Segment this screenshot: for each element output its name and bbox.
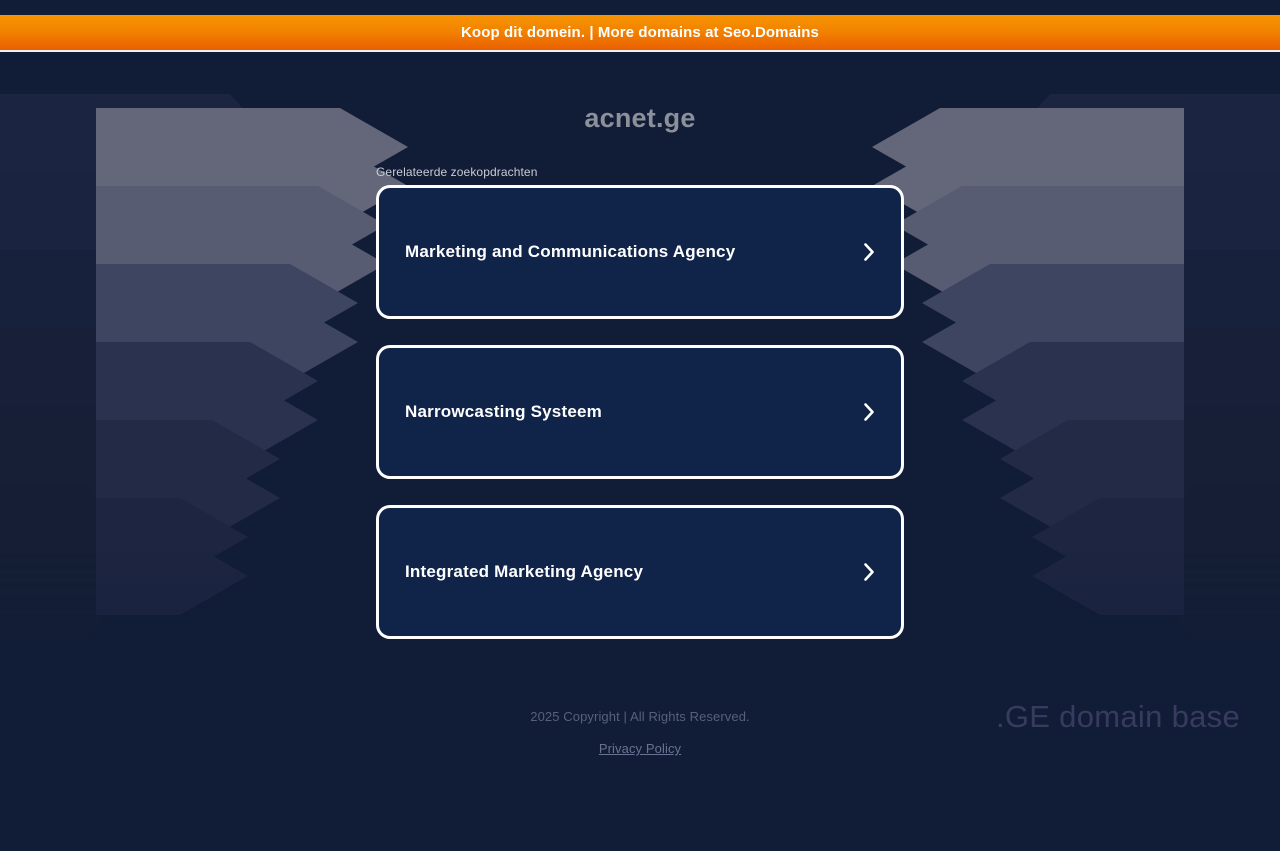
chevron-right-icon (858, 401, 880, 423)
related-searches-list: Marketing and Communications Agency Narr… (376, 185, 904, 665)
main-content: acnet.ge Gerelateerde zoekopdrachten Mar… (0, 54, 1280, 851)
related-search-label-2: Narrowcasting Systeem (405, 402, 602, 422)
chevron-right-icon (858, 241, 880, 263)
related-search-item-3[interactable]: Integrated Marketing Agency (376, 505, 904, 639)
chevron-right-icon (858, 561, 880, 583)
related-search-item-2[interactable]: Narrowcasting Systeem (376, 345, 904, 479)
related-search-item-1[interactable]: Marketing and Communications Agency (376, 185, 904, 319)
related-searches-label: Gerelateerde zoekopdrachten (376, 165, 537, 179)
promo-banner-text: Koop dit domein. | More domains at Seo.D… (461, 24, 819, 41)
ge-domain-base-watermark: .GE domain base (996, 699, 1240, 735)
related-search-label-1: Marketing and Communications Agency (405, 242, 735, 262)
top-dark-strip (0, 0, 1280, 15)
page-title: acnet.ge (0, 103, 1280, 134)
related-search-label-3: Integrated Marketing Agency (405, 562, 643, 582)
promo-banner[interactable]: Koop dit domein. | More domains at Seo.D… (0, 15, 1280, 52)
privacy-policy-link[interactable]: Privacy Policy (599, 741, 681, 756)
